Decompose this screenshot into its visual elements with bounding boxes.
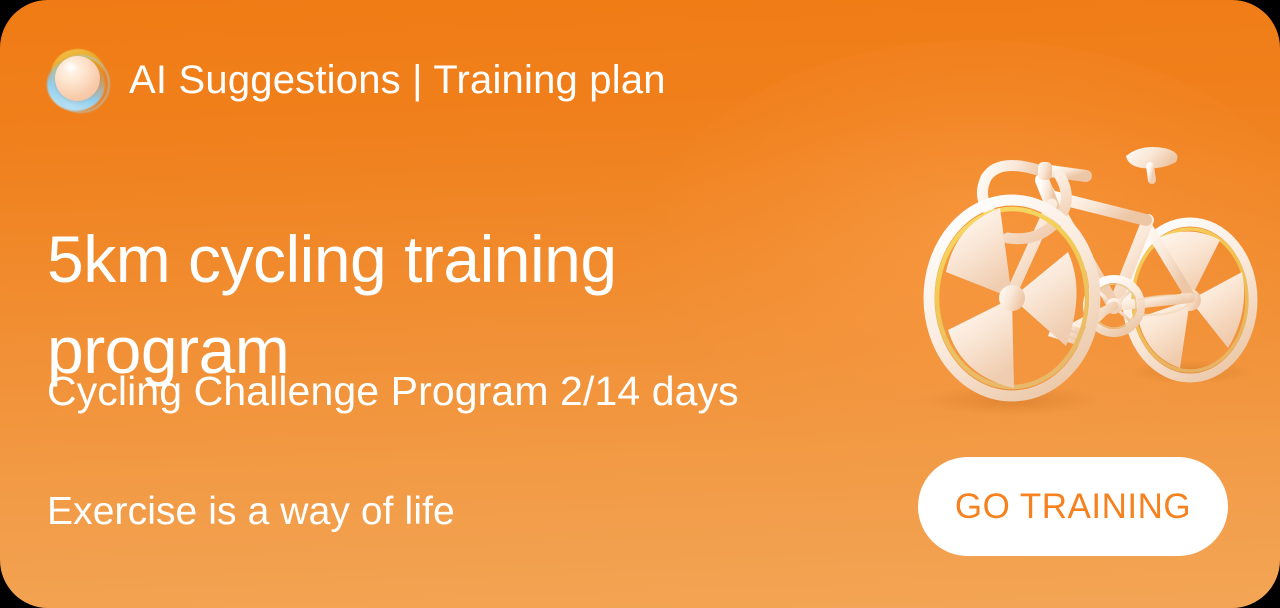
handlebar [982, 162, 1086, 239]
rear-wheel [1127, 222, 1253, 378]
orb-highlight [62, 61, 79, 73]
drivetrain [1048, 279, 1190, 346]
go-training-button[interactable]: GO TRAINING [918, 457, 1228, 556]
saddle [1126, 147, 1178, 180]
bicycle-frame [1012, 180, 1190, 306]
header-label: AI Suggestions | Training plan [129, 60, 666, 100]
header: AI Suggestions | Training plan [47, 47, 666, 113]
bicycle-illustration [890, 100, 1260, 430]
promo-card: AI Suggestions | Training plan 5km cycli… [0, 0, 1280, 608]
program-subtitle: Cycling Challenge Program 2/14 days [47, 367, 739, 416]
motivational-tagline: Exercise is a way of life [47, 489, 455, 536]
ai-orb-icon [47, 49, 109, 111]
front-wheel [929, 200, 1095, 396]
